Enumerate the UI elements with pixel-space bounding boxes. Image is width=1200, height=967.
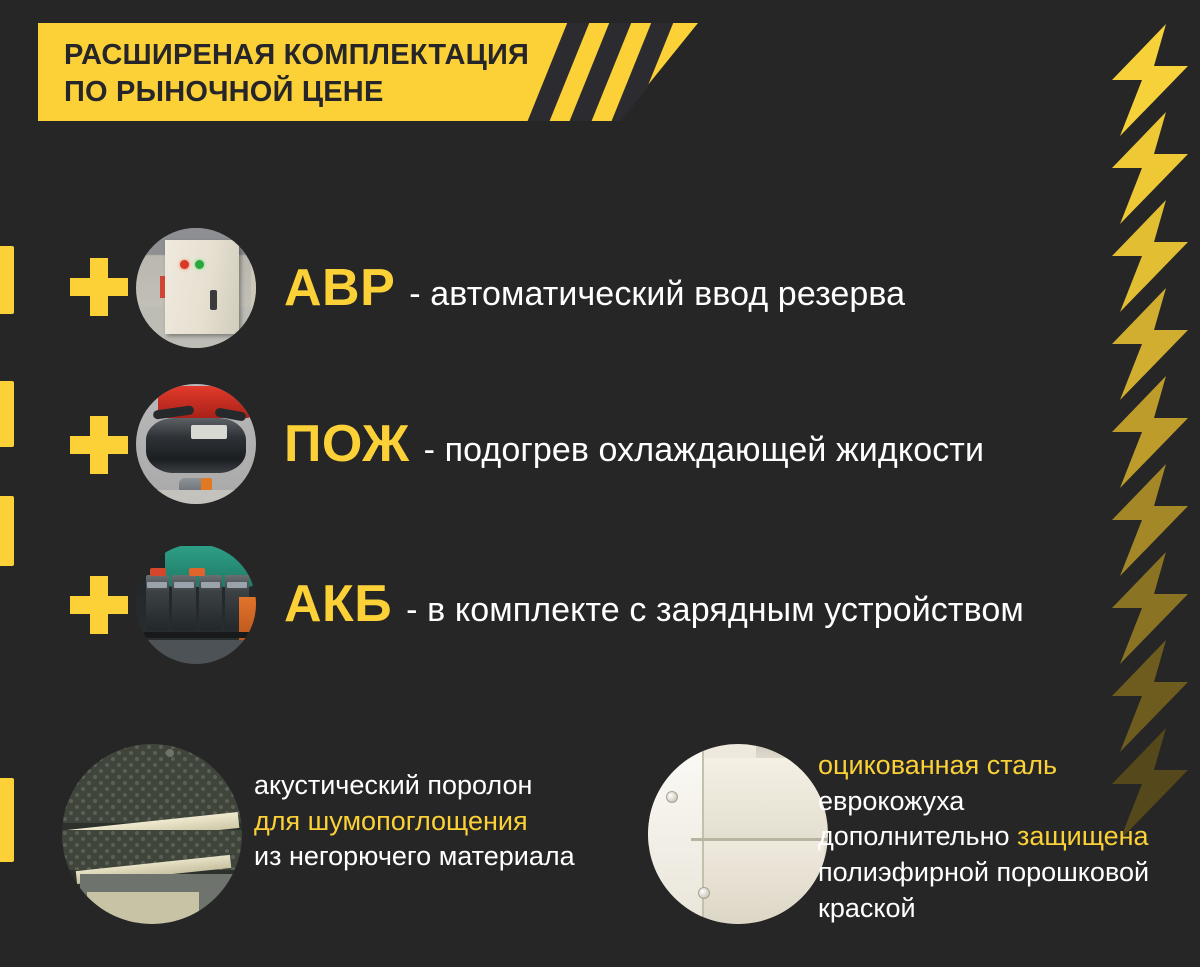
- feature-description: - автоматический ввод резерва: [409, 275, 905, 314]
- caption-line: из негорючего материала: [254, 839, 575, 875]
- feature-label-avr: АВР - автоматический ввод резерва: [284, 258, 905, 318]
- feature-abbr: АВР: [284, 258, 395, 318]
- caption-line-highlight: оцикованная сталь: [818, 748, 1149, 784]
- page-title: РАСШИРЕНАЯ КОМПЛЕКТАЦИЯ ПО РЫНОЧНОЙ ЦЕНЕ: [64, 37, 529, 111]
- feature-description: - в комплекте с зарядным устройством: [406, 591, 1024, 630]
- plus-icon: [70, 416, 128, 474]
- photo-batteries: [136, 544, 256, 664]
- caption-acoustic-foam: акустический поролон для шумопоглощения …: [254, 768, 575, 875]
- caption-line: полиэфирной порошковой: [818, 855, 1149, 891]
- photo-coolant-heater: [136, 384, 256, 504]
- feature-abbr: АКБ: [284, 574, 392, 634]
- caption-line: еврокожуха: [818, 784, 1149, 820]
- slide-root: РАСШИРЕНАЯ КОМПЛЕКТАЦИЯ ПО РЫНОЧНОЙ ЦЕНЕ: [0, 0, 1200, 967]
- caption-line-mixed: дополнительно защищена: [818, 819, 1149, 855]
- header-banner: РАСШИРЕНАЯ КОМПЛЕКТАЦИЯ ПО РЫНОЧНОЙ ЦЕНЕ: [38, 23, 698, 121]
- caption-steel-housing: оцикованная сталь еврокожуха дополнитель…: [818, 748, 1149, 926]
- photo-control-cabinet: [136, 228, 256, 348]
- photo-acoustic-foam: [62, 744, 242, 924]
- feature-label-pozh: ПОЖ - подогрев охлаждающей жидкости: [284, 414, 984, 474]
- edge-tab-4: [0, 778, 14, 862]
- banner-stripes: [523, 23, 698, 121]
- feature-row-akb: АКБ - в комплекте с зарядным устройством: [0, 540, 1100, 670]
- caption-line: акустический поролон: [254, 768, 575, 804]
- feature-row-pozh: ПОЖ - подогрев охлаждающей жидкости: [0, 380, 1100, 510]
- plus-icon: [70, 576, 128, 634]
- feature-row-avr: АВР - автоматический ввод резерва: [0, 222, 1100, 352]
- feature-abbr: ПОЖ: [284, 414, 410, 474]
- caption-line-highlight: защищена: [1017, 821, 1149, 851]
- feature-description: - подогрев охлаждающей жидкости: [424, 431, 984, 470]
- plus-icon: [70, 258, 128, 316]
- feature-label-akb: АКБ - в комплекте с зарядным устройством: [284, 574, 1024, 634]
- caption-line-plain: дополнительно: [818, 821, 1017, 851]
- photo-galvanized-steel-housing: [648, 744, 828, 924]
- caption-line: краской: [818, 891, 1149, 927]
- caption-line-highlight: для шумопоглощения: [254, 804, 575, 840]
